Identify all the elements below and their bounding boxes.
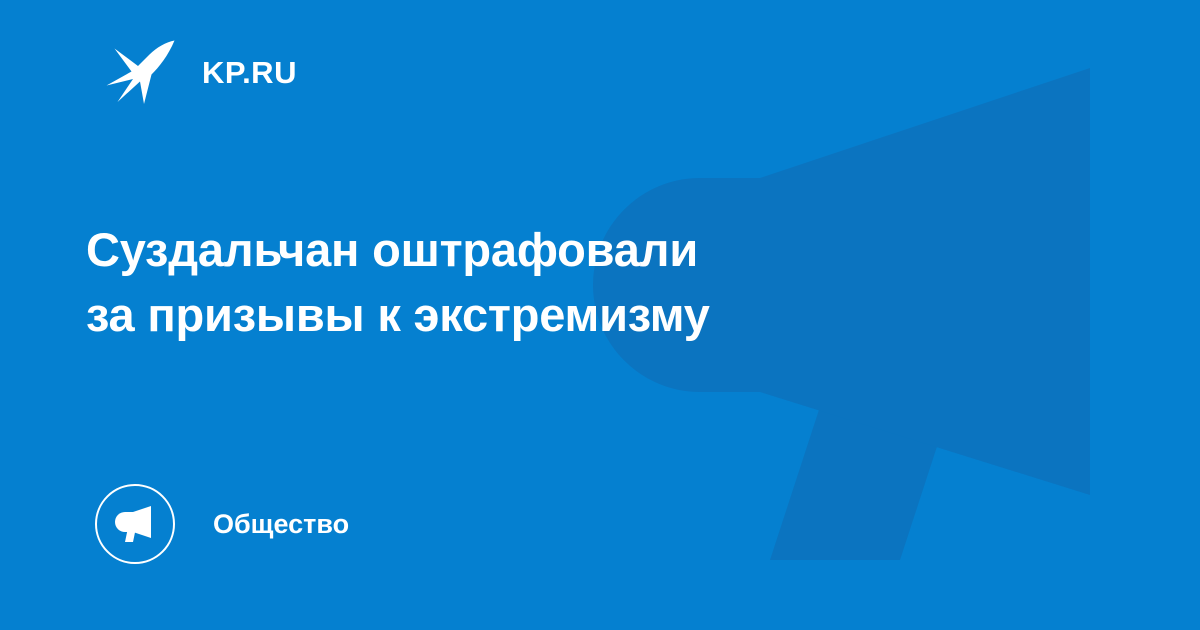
page-title: Суздальчан оштрафовали за призывы к экст…	[86, 217, 966, 347]
social-share-card: KP.RU Суздальчан оштрафовали за призывы …	[0, 0, 1200, 630]
megaphone-icon	[113, 504, 157, 544]
headline-line-1: Суздальчан оштрафовали	[86, 217, 966, 282]
brand-logo[interactable]: KP.RU	[104, 36, 297, 108]
category-badge[interactable]: Общество	[95, 484, 349, 564]
brand-name: KP.RU	[202, 57, 297, 88]
swallow-bird-icon	[104, 36, 178, 108]
headline-line-2: за призывы к экстремизму	[86, 282, 966, 347]
category-label: Общество	[213, 511, 349, 538]
category-icon-circle	[95, 484, 175, 564]
